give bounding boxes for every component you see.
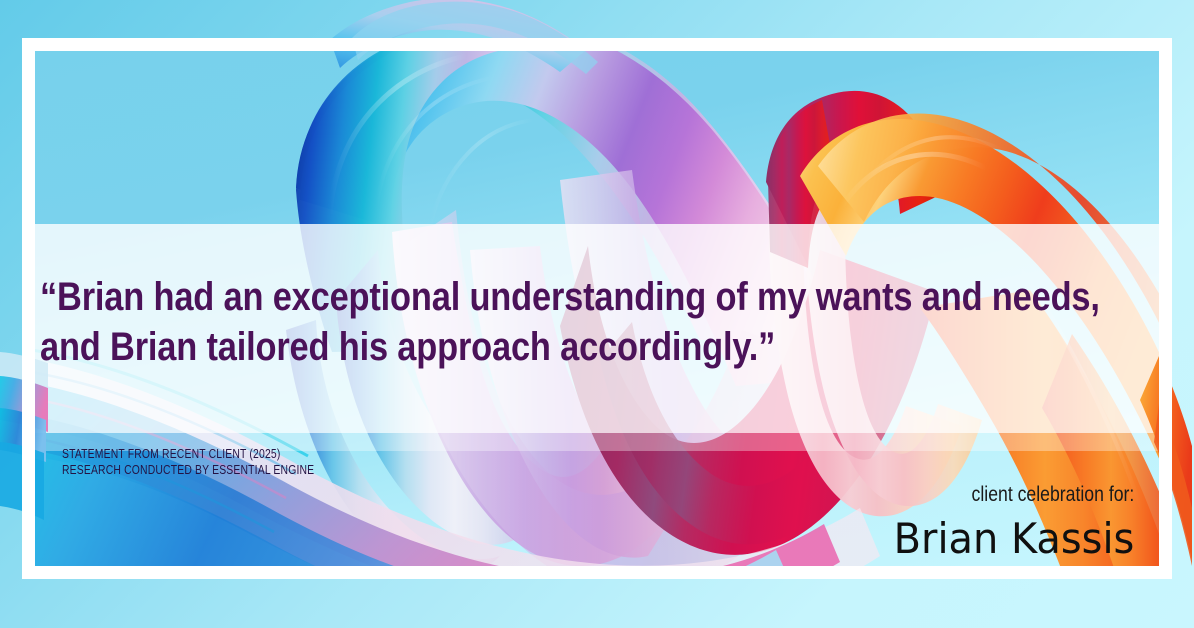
quote-line-2: and Brian tailored his approach accordin… [40, 322, 909, 372]
attribution-block: STATEMENT FROM RECENT CLIENT (2025) RESE… [62, 446, 377, 478]
frame-border-top [22, 38, 1172, 51]
frame-border-left [22, 38, 35, 579]
testimonial-graphic: “Brian had an exceptional understanding … [0, 0, 1194, 628]
frame-border-right [1159, 38, 1172, 579]
attribution-line-2: RESEARCH CONDUCTED BY ESSENTIAL ENGINE [62, 462, 314, 478]
signoff-label: client celebration for: [921, 482, 1134, 508]
frame-border-bottom [22, 566, 1172, 579]
quote-line-1: “Brian had an exceptional understanding … [40, 272, 909, 322]
attribution-line-1: STATEMENT FROM RECENT CLIENT (2025) [62, 446, 314, 462]
signoff-block: client celebration for: Brian Kassis [881, 482, 1134, 566]
signoff-name: Brian Kassis [893, 512, 1134, 566]
quote-block: “Brian had an exceptional understanding … [40, 272, 1050, 372]
